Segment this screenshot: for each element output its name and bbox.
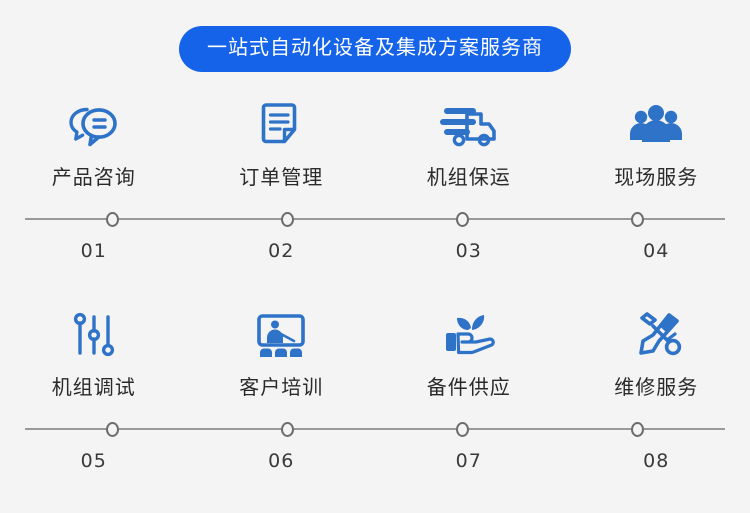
timeline-dot-cell [550,420,725,438]
step-number: 02 [188,242,376,261]
step-numbers-row-1: 01 02 03 04 [0,242,750,261]
step-number: 08 [563,452,750,471]
service-card-onsite-service[interactable]: 现场服务 [563,94,750,188]
service-card-label: 客户培训 [239,378,323,398]
page-title: 一站式自动化设备及集成方案服务商 [179,26,571,72]
timeline-row-2 [25,420,725,438]
step-number: 01 [0,242,188,261]
service-row-1: 产品咨询 订单管理 [0,94,750,274]
step-number: 06 [188,452,376,471]
service-card-unit-transport[interactable]: 机组保运 [375,94,563,188]
service-card-spare-parts-supply[interactable]: 备件供应 [375,304,563,398]
timeline-dot-cell [550,210,725,228]
service-cards-row-1: 产品咨询 订单管理 [0,94,750,188]
timeline-dot-cell [375,210,550,228]
timeline-dot-04[interactable] [631,212,644,227]
timeline-dot-cell [375,420,550,438]
service-card-unit-commissioning[interactable]: 机组调试 [0,304,188,398]
timeline-dot-03[interactable] [456,212,469,227]
service-card-label: 现场服务 [614,168,698,188]
people-group-icon [625,94,687,156]
service-cards-row-2: 机组调试 客户培训 [0,304,750,398]
timeline-row-1 [25,210,725,228]
training-classroom-icon [252,304,310,366]
service-card-label: 机组保运 [427,168,511,188]
step-number: 03 [375,242,563,261]
timeline-dots [25,420,725,438]
timeline-dot-cell [200,420,375,438]
document-order-icon [256,94,306,156]
delivery-truck-icon [437,94,501,156]
timeline-dot-01[interactable] [106,212,119,227]
service-card-label: 备件供应 [427,378,511,398]
service-card-customer-training[interactable]: 客户培训 [188,304,376,398]
service-card-label: 维修服务 [614,378,698,398]
service-card-order-management[interactable]: 订单管理 [188,94,376,188]
service-card-label: 机组调试 [52,378,136,398]
timeline-dot-08[interactable] [631,422,644,437]
step-number: 05 [0,452,188,471]
step-numbers-row-2: 05 06 07 08 [0,452,750,471]
chat-consult-icon [65,94,123,156]
service-card-label: 订单管理 [239,168,323,188]
timeline-dot-06[interactable] [281,422,294,437]
service-row-2: 机组调试 客户培训 [0,304,750,484]
timeline-dot-cell [25,420,200,438]
step-number: 04 [563,242,750,261]
service-card-label: 产品咨询 [52,168,136,188]
timeline-dots [25,210,725,228]
service-card-product-consult[interactable]: 产品咨询 [0,94,188,188]
timeline-dot-cell [200,210,375,228]
timeline-dot-05[interactable] [106,422,119,437]
step-number: 07 [375,452,563,471]
timeline-dot-02[interactable] [281,212,294,227]
hand-leaf-supply-icon [438,304,500,366]
service-card-repair-service[interactable]: 维修服务 [563,304,750,398]
header-banner: 一站式自动化设备及集成方案服务商 [0,0,750,72]
timeline-dot-07[interactable] [456,422,469,437]
timeline-dot-cell [25,210,200,228]
sliders-tuning-icon [68,304,120,366]
wrench-screwdriver-icon [629,304,683,366]
